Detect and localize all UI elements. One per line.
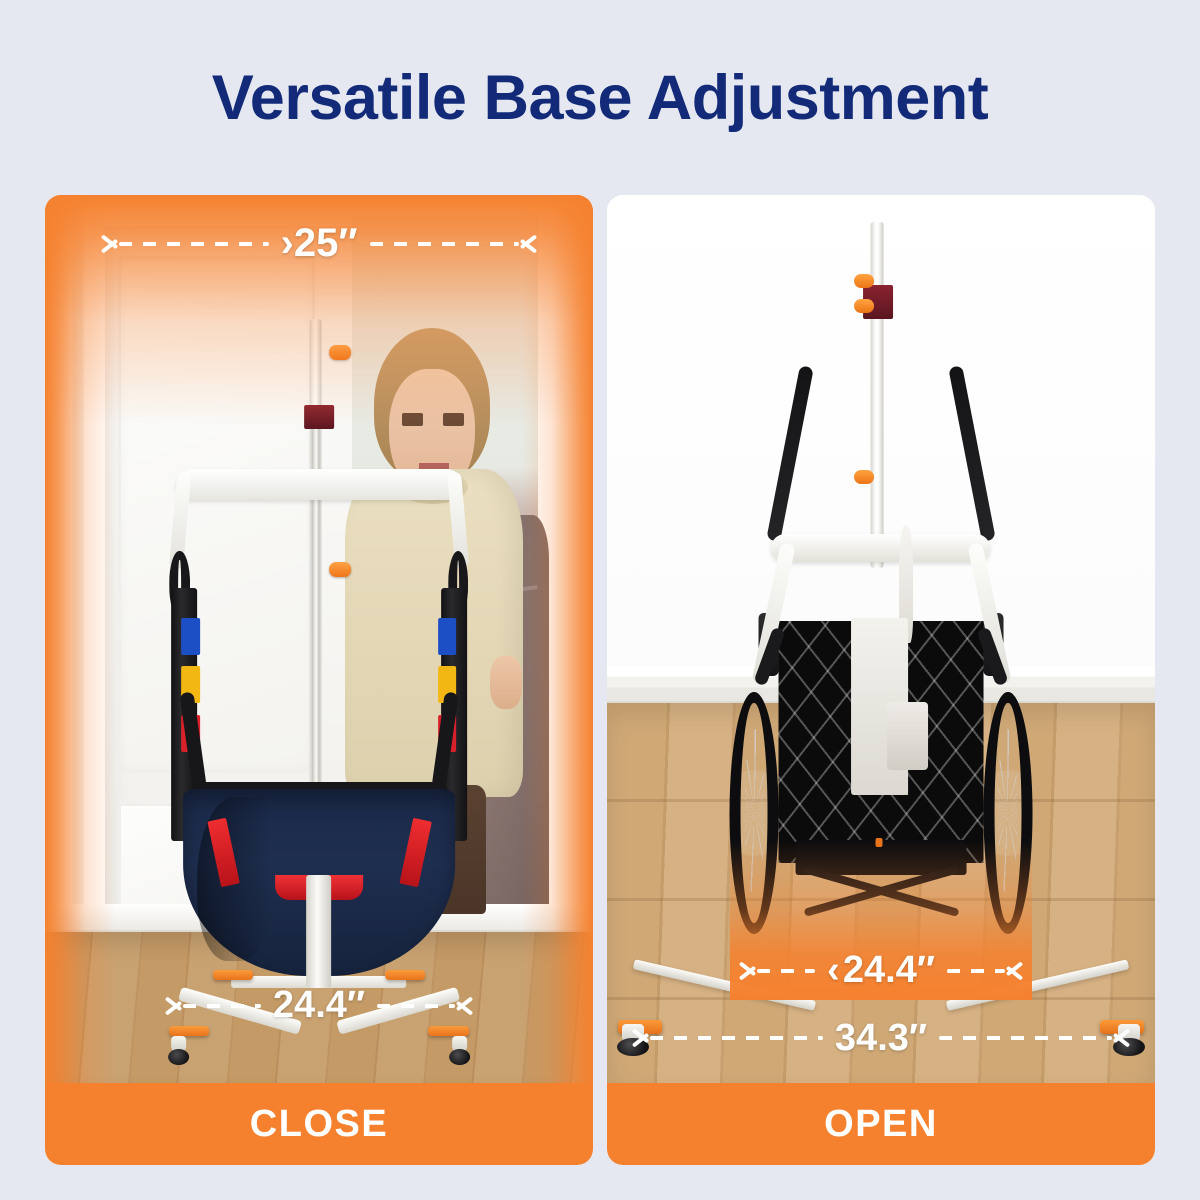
- dimension-dash-left: [183, 1004, 261, 1008]
- dimension-dash-right: [947, 969, 1005, 973]
- adjust-knob-lower-icon: [854, 470, 874, 484]
- panel-open: ‹ 24.4″ 34.3″ OPEN: [607, 195, 1155, 1165]
- adjust-knob-second-icon: [854, 299, 874, 313]
- arrow-left-icon: [101, 227, 119, 261]
- base-closed: [163, 871, 476, 1065]
- panel-close: ›25″ 24.4″ CLOSE: [45, 195, 593, 1165]
- dimension-inner-clearance: ‹ 24.4″: [739, 949, 1024, 992]
- dimension-dash-left: [119, 242, 269, 246]
- dimension-base-width-open: 34.3″: [632, 1017, 1131, 1060]
- adjust-knob-upper-icon: [329, 345, 351, 360]
- hand: [490, 656, 522, 709]
- arrow-right-icon: [1112, 1021, 1130, 1055]
- caster-wheel-left: [168, 1049, 189, 1065]
- dimension-base-width-closed-label: 24.4″: [261, 984, 377, 1027]
- dimension-dash-right: [377, 1004, 455, 1008]
- dimension-dash-right: [939, 1036, 1112, 1040]
- panel-close-photo: ›25″ 24.4″: [45, 195, 593, 1083]
- arrow-left-icon: [739, 954, 757, 988]
- page-title: Versatile Base Adjustment: [0, 0, 1200, 195]
- arrow-left-icon: [165, 989, 183, 1023]
- dimension-doorway-width: ›25″: [101, 221, 537, 266]
- dimension-base-width-closed: 24.4″: [165, 984, 473, 1027]
- loop-blue-left: [181, 618, 200, 655]
- comparison-cards: ›25″ 24.4″ CLOSE: [45, 195, 1155, 1165]
- caster-right: [447, 1036, 472, 1065]
- dimension-dash-left: [757, 969, 815, 973]
- base-center-post: [306, 875, 331, 987]
- dimension-base-width-open-label: 34.3″: [823, 1017, 939, 1060]
- foot-pedal-inner-left: [213, 970, 254, 980]
- dimension-dash-right: [370, 242, 520, 246]
- mast-column: [870, 222, 883, 568]
- dimension-doorway-width-label: ›25″: [269, 221, 370, 266]
- dimension-inner-clearance-label: ‹ 24.4″: [815, 949, 947, 992]
- caster-left: [166, 1036, 191, 1065]
- patient-lift-closed: [149, 319, 489, 1065]
- panel-close-caption: CLOSE: [45, 1083, 593, 1165]
- boom-bar: [772, 534, 991, 563]
- mast-red-band: [304, 405, 335, 429]
- support-grip-right: [948, 365, 995, 541]
- panel-open-caption: OPEN: [607, 1083, 1155, 1165]
- caster-wheel-right: [449, 1049, 470, 1065]
- doorway-scene: [45, 195, 593, 1083]
- adjust-knob-lower-icon: [329, 562, 351, 577]
- foot-pedal-right: [428, 1026, 469, 1036]
- spreader-bar: [176, 469, 461, 500]
- dimension-dash-left: [650, 1036, 823, 1040]
- arrow-right-icon: [1005, 954, 1023, 988]
- panel-open-photo: ‹ 24.4″ 34.3″: [607, 195, 1155, 1083]
- arrow-right-icon: [519, 227, 537, 261]
- foot-pedal-inner-right: [385, 970, 426, 980]
- foot-pedal-left: [169, 1026, 210, 1036]
- adjust-knob-top-icon: [854, 274, 874, 288]
- support-grip-left: [767, 365, 814, 541]
- product-feature-page: Versatile Base Adjustment: [0, 0, 1200, 1200]
- loop-blue-right: [438, 618, 457, 655]
- arrow-left-icon: [632, 1021, 650, 1055]
- arrow-right-icon: [455, 989, 473, 1023]
